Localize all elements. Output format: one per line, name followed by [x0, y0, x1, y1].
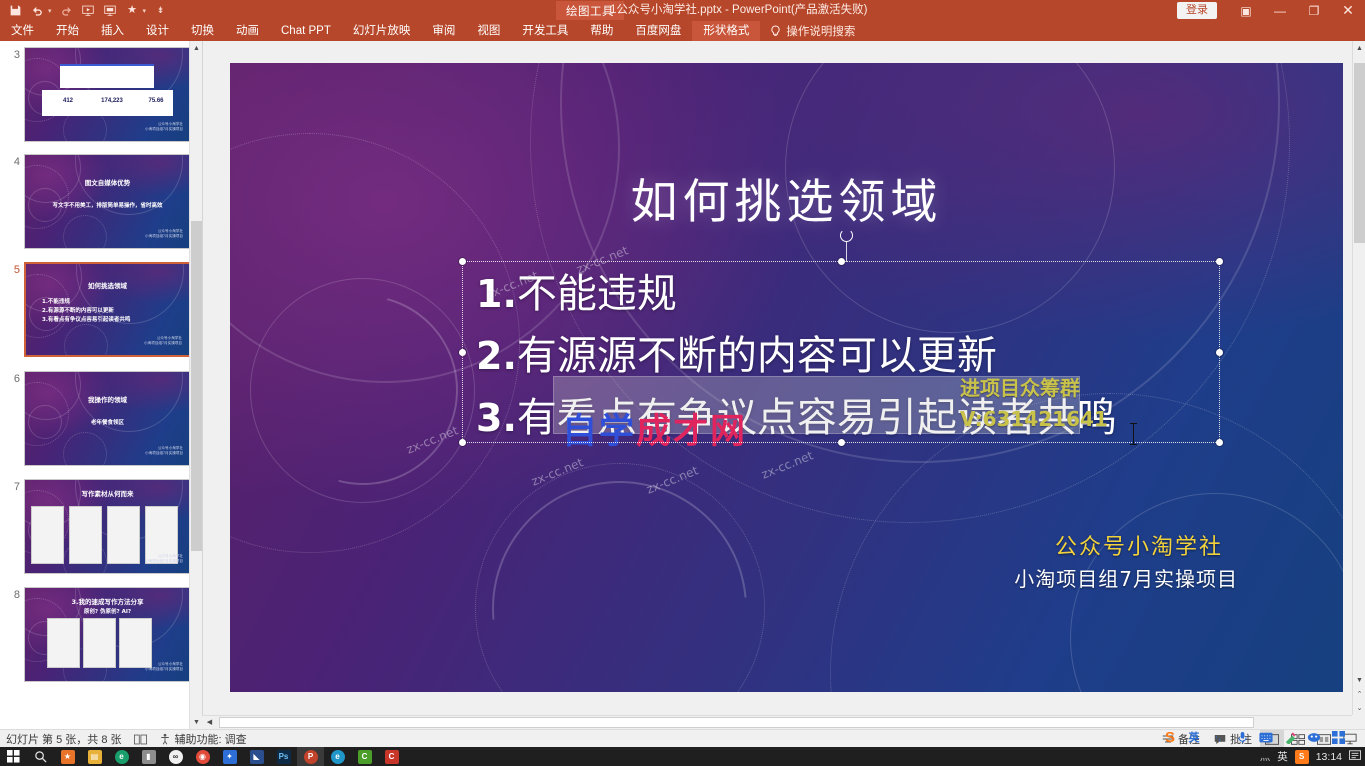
keyboard-icon[interactable]: [1258, 729, 1274, 745]
save-icon[interactable]: [8, 3, 23, 18]
thumbnail-number: 4: [4, 156, 20, 168]
blue-circle-icon[interactable]: e: [324, 747, 351, 766]
minimize-button[interactable]: —: [1263, 0, 1297, 21]
tray-clock[interactable]: 13:14: [1316, 751, 1342, 763]
thumbnail-stat-value: 412: [47, 98, 89, 104]
thumbnail-footer: 公众号小淘学社小淘项目组7月实操项目: [145, 662, 183, 672]
start-slideshow-icon[interactable]: [81, 3, 96, 18]
close-button[interactable]: ✕: [1331, 0, 1365, 21]
slide-thumbnail-4[interactable]: 4图文自媒体优势写文字不用美工，排版简单易操作，省时高效公众号小淘学社小淘项目组…: [0, 154, 202, 262]
ribbon-tab-4[interactable]: 切换: [180, 21, 225, 41]
work-area: 3成果展示412174,22375.66公众号小淘学社小淘项目组7月实操项目4图…: [0, 41, 1365, 729]
thumbnail-number: 3: [4, 49, 20, 61]
thumbnail-title: 我操作的领域: [25, 394, 190, 404]
scroll-down-icon[interactable]: ▼: [1353, 673, 1365, 687]
slide-thumbnail-7[interactable]: 7写作素材从何而来公众号小淘学社小淘项目组7月实操项目: [0, 479, 202, 587]
ribbon-tab-2[interactable]: 插入: [90, 21, 135, 41]
slide-vertical-scrollbar[interactable]: ▲ ▼ ⌃ ⌄: [1352, 41, 1365, 715]
thumbnail-frame[interactable]: 如何挑选领域1.不能违规2.有源源不断的内容可以更新3.有看点有争议点容易引起读…: [24, 262, 191, 357]
layout-icon[interactable]: [134, 730, 147, 748]
thumbnail-frame[interactable]: 图文自媒体优势写文字不用美工，排版简单易操作，省时高效公众号小淘学社小淘项目组7…: [24, 154, 191, 249]
punctuation-icon[interactable]: ·,: [1210, 729, 1226, 745]
thumbnail-image-card: [107, 506, 140, 564]
lightbulb-icon: [770, 25, 781, 37]
slide-brand-yellow: 公众号小淘学社: [1055, 529, 1223, 561]
edge-icon[interactable]: e: [108, 747, 135, 766]
resize-handle-s[interactable]: [838, 439, 845, 446]
notification-icon[interactable]: [1349, 750, 1361, 764]
slide-thumbnail-5[interactable]: 5如何挑选领域1.不能违规2.有源源不断的内容可以更新3.有看点有争议点容易引起…: [0, 262, 202, 370]
chrome-icon[interactable]: ◉: [189, 747, 216, 766]
thumbnail-body-line: 3.有看点有争议点容易引起读者共鸣: [42, 315, 130, 323]
ribbon-tab-6[interactable]: Chat PPT: [270, 21, 342, 41]
thumbnail-footer-line2: 小淘项目组7月实操项目: [145, 667, 183, 672]
vertical-scroll-thumb[interactable]: [1354, 63, 1365, 243]
powerpoint-icon[interactable]: P: [297, 747, 324, 766]
slide-thumbnail-list: 3成果展示412174,22375.66公众号小淘学社小淘项目组7月实操项目4图…: [0, 41, 202, 729]
present-current-slide-icon[interactable]: [103, 3, 118, 18]
slide-editor-pane: 如何挑选领域 1.不能违规2.有源源不断的内容可以更新3.有看点有争议点容易引起…: [202, 41, 1365, 729]
text-cursor: [1133, 423, 1134, 445]
restore-button[interactable]: ❐: [1297, 0, 1331, 21]
thumbnail-title: 图文自媒体优势: [25, 177, 190, 187]
file-explorer-icon[interactable]: ▤: [81, 747, 108, 766]
horizontal-scroll-thumb[interactable]: [219, 717, 1254, 728]
thumbnail-stat-value: 174,223: [91, 98, 133, 104]
start-icon[interactable]: [0, 747, 27, 766]
slide-count-label[interactable]: 幻灯片 第 5 张，共 8 张: [6, 730, 122, 748]
scroll-left-icon[interactable]: ◀: [203, 716, 216, 728]
slide-thumbnail-6[interactable]: 6我操作的领域老年餐食领区公众号小淘学社小淘项目组7月实操项目: [0, 371, 202, 479]
ribbon-tab-7[interactable]: 幻灯片放映: [342, 21, 422, 41]
resize-handle-nw[interactable]: [459, 258, 466, 265]
panda-icon[interactable]: ∞: [162, 747, 189, 766]
slide-thumbnail-pane[interactable]: 3成果展示412174,22375.66公众号小淘学社小淘项目组7月实操项目4图…: [0, 41, 202, 729]
resize-handle-n[interactable]: [838, 258, 845, 265]
blue-shape-icon[interactable]: ◣: [243, 747, 270, 766]
rotate-handle-stem: [846, 241, 847, 262]
status-left-group: 幻灯片 第 5 张，共 8 张 辅助功能: 调查: [6, 730, 247, 748]
thumbnail-body-line: 2.有源源不断的内容可以更新: [42, 306, 114, 314]
thumbnail-frame[interactable]: 成果展示412174,22375.66公众号小淘学社小淘项目组7月实操项目: [24, 47, 191, 142]
thumbnail-image-card: [47, 618, 80, 668]
resize-handle-ne[interactable]: [1216, 258, 1223, 265]
thumbnail-number: 8: [4, 589, 20, 601]
slide-brand-white: 小淘项目组7月实操项目: [1014, 563, 1238, 592]
tell-me-label: 操作说明搜索: [786, 23, 855, 39]
green-c-icon[interactable]: C: [351, 747, 378, 766]
rotate-handle[interactable]: [840, 229, 853, 242]
thumbnail-frame[interactable]: 我操作的领域老年餐食领区公众号小淘学社小淘项目组7月实操项目: [24, 371, 191, 466]
scroll-up-icon[interactable]: ▲: [1353, 41, 1365, 55]
title-bar: ▾ ★ ▾ ⇟ 绘图工具 1公众号小淘学社.pptx - PowerPoint(…: [0, 0, 1365, 21]
text-box-selection-frame[interactable]: [462, 261, 1220, 443]
bird-icon[interactable]: ✦: [216, 747, 243, 766]
search-icon[interactable]: [27, 747, 54, 766]
ribbon-tab-bar: 文件开始插入设计切换动画Chat PPT幻灯片放映审阅视图开发工具帮助百度网盘形…: [0, 21, 1365, 41]
thumbnail-subtitle: 原创? 伪原创? AI?: [25, 607, 190, 615]
customize-quick-access-icon[interactable]: ⇟: [153, 3, 168, 18]
accessibility-label: 辅助功能: 调查: [175, 731, 247, 747]
tray-ime-icon[interactable]: 灬: [1260, 749, 1271, 764]
ribbon-tab-9[interactable]: 视图: [466, 21, 511, 41]
thumbnail-scroll-thumb[interactable]: [191, 221, 202, 551]
document-title: 1公众号小淘学社.pptx - PowerPoint(产品激活失败): [610, 0, 1210, 21]
thumbnail-footer: 公众号小淘学社小淘项目组7月实操项目: [145, 122, 183, 132]
previous-slide-icon[interactable]: ⌃: [1353, 687, 1365, 701]
thumbnail-number: 6: [4, 373, 20, 385]
resize-handle-sw[interactable]: [459, 439, 466, 446]
thumbnail-subtitle: 写文字不用美工，排版简单易操作，省时高效: [25, 201, 190, 209]
thumbnail-footer-line2: 小淘项目组7月实操项目: [144, 341, 182, 346]
sogou-logo-icon[interactable]: S: [1162, 729, 1178, 745]
thumbnail-footer: 公众号小淘学社小淘项目组7月实操项目: [145, 554, 183, 564]
undo-dropdown-caret[interactable]: ▾: [48, 7, 52, 15]
voice-input-icon[interactable]: [1234, 729, 1250, 745]
ribbon-tab-1[interactable]: 开始: [45, 21, 90, 41]
ribbon-display-options-icon[interactable]: ▣: [1229, 0, 1263, 21]
english-mode-icon[interactable]: 英: [1186, 729, 1202, 745]
toolbox-icon[interactable]: [1282, 729, 1298, 745]
orange-app-icon[interactable]: ★: [54, 747, 81, 766]
tray-ime-mode[interactable]: 英: [1277, 749, 1288, 764]
thumbnail-image-card: [83, 618, 116, 668]
thumbnail-footer-line2: 小淘项目组7月实操项目: [145, 559, 183, 564]
thumbnail-number: 7: [4, 481, 20, 493]
thumbnail-body-line: 1.不能违规: [42, 297, 70, 305]
ribbon-tab-3[interactable]: 设计: [135, 21, 180, 41]
ribbon-tab-12[interactable]: 百度网盘: [624, 21, 692, 41]
photoshop-icon[interactable]: Ps: [270, 747, 297, 766]
thumbnail-number: 5: [4, 264, 20, 276]
tray-sogou-icon[interactable]: S: [1295, 750, 1309, 764]
window-controls: 登录 ▣ — ❐ ✕: [1177, 0, 1365, 21]
next-slide-icon[interactable]: ⌄: [1353, 701, 1365, 715]
ribbon-tab-13[interactable]: 形状格式: [692, 21, 760, 41]
thumbnail-footer: 公众号小淘学社小淘项目组7月实操项目: [145, 446, 183, 456]
system-tray: 灬 英 S 13:14: [1260, 747, 1361, 766]
windows-taskbar: ★ ▤ e ▮ ∞ ◉ ✦ ◣ Ps P e C C 灬 英 S 13:14: [0, 747, 1365, 766]
thumbnail-title: 写作素材从何而来: [25, 488, 190, 498]
quick-access-toolbar: ▾ ★ ▾ ⇟: [8, 0, 168, 21]
thumbnail-image-card: [119, 618, 152, 668]
thumbnail-frame[interactable]: 3.我的速成写作方法分享原创? 伪原创? AI?公众号小淘学社小淘项目组7月实操…: [24, 587, 191, 682]
slide-title[interactable]: 如何挑选领域: [230, 163, 1343, 232]
thumbnail-footer-line2: 小淘项目组7月实操项目: [145, 451, 183, 456]
pane-divider: [202, 41, 203, 729]
thumbnail-scroll-up-icon[interactable]: ▲: [190, 41, 202, 55]
ribbon-tab-0[interactable]: 文件: [0, 21, 45, 41]
favorite-dropdown-caret[interactable]: ▾: [143, 7, 147, 15]
slide-thumbnail-8[interactable]: 83.我的速成写作方法分享原创? 伪原创? AI?公众号小淘学社小淘项目组7月实…: [0, 587, 202, 695]
ribbon-tab-10[interactable]: 开发工具: [511, 21, 579, 41]
thumbnail-title: 如何挑选领域: [26, 280, 189, 290]
resize-handle-w[interactable]: [459, 349, 466, 356]
ribbon-tab-5[interactable]: 动画: [225, 21, 270, 41]
login-button[interactable]: 登录: [1177, 2, 1217, 19]
sogou-ime-toolbar[interactable]: S 英 ·,: [1156, 726, 1352, 748]
favorite-star-icon[interactable]: ★: [125, 3, 140, 18]
accessibility-status[interactable]: 辅助功能: 调查: [159, 730, 247, 748]
undo-icon[interactable]: [30, 3, 45, 18]
resize-handle-e[interactable]: [1216, 349, 1223, 356]
thumbnail-frame[interactable]: 写作素材从何而来公众号小淘学社小淘项目组7月实操项目: [24, 479, 191, 574]
thumb-decor-ring-5: [63, 215, 107, 249]
thumbnail-title: 3.我的速成写作方法分享: [25, 596, 190, 606]
powerpoint-window: ▾ ★ ▾ ⇟ 绘图工具 1公众号小淘学社.pptx - PowerPoint(…: [0, 0, 1365, 766]
taskbar-items: ★ ▤ e ▮ ∞ ◉ ✦ ◣ Ps P e C C: [0, 747, 405, 766]
red-c-icon[interactable]: C: [378, 747, 405, 766]
thumbnail-subtitle: 老年餐食领区: [25, 418, 190, 426]
ribbon-tabs: 文件开始插入设计切换动画Chat PPT幻灯片放映审阅视图开发工具帮助百度网盘形…: [0, 21, 865, 41]
thumbnail-scrollbar[interactable]: ▲ ▼: [189, 41, 202, 729]
slide-thumbnail-3[interactable]: 3成果展示412174,22375.66公众号小淘学社小淘项目组7月实操项目: [0, 47, 202, 155]
apps-grid-icon[interactable]: [1330, 729, 1346, 745]
thumbnail-stat-value: 75.66: [135, 98, 177, 104]
thumbnail-scroll-down-icon[interactable]: ▼: [190, 715, 202, 729]
ribbon-tab-8[interactable]: 审阅: [421, 21, 466, 41]
redo-icon[interactable]: [59, 3, 74, 18]
usb-app-icon[interactable]: ▮: [135, 747, 162, 766]
thumbnail-image-card: [31, 506, 64, 564]
thumb-decor-ring-5: [63, 432, 107, 466]
thumbnail-footer: 公众号小淘学社小淘项目组7月实操项目: [144, 336, 182, 346]
thumbnail-footer: 公众号小淘学社小淘项目组7月实操项目: [145, 229, 183, 239]
thumb-decor-ring-5: [64, 324, 108, 357]
ribbon-tab-11[interactable]: 帮助: [579, 21, 624, 41]
tell-me-search[interactable]: 操作说明搜索: [760, 21, 865, 41]
expression-icon[interactable]: [1306, 729, 1322, 745]
resize-handle-se[interactable]: [1216, 439, 1223, 446]
thumbnail-card-top: [60, 64, 154, 88]
thumbnail-footer-line2: 小淘项目组7月实操项目: [145, 127, 183, 132]
slide-canvas[interactable]: 如何挑选领域 1.不能违规2.有源源不断的内容可以更新3.有看点有争议点容易引起…: [230, 63, 1343, 692]
thumbnail-footer-line2: 小淘项目组7月实操项目: [145, 234, 183, 239]
thumbnail-image-card: [69, 506, 102, 564]
